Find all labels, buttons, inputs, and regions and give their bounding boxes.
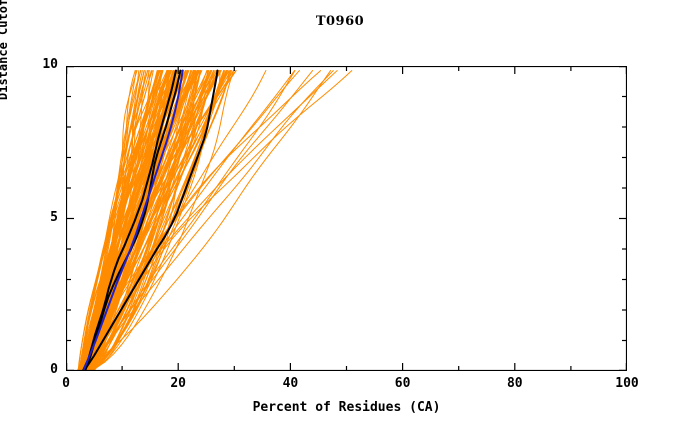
y-tick-label: 0 [28,362,58,377]
y-axis-label-text: Distance Cutoff, A [0,0,10,100]
x-axis-label: Percent of Residues (CA) [66,400,627,415]
plot-svg [66,66,627,371]
x-tick-label: 80 [495,376,535,391]
prediction-curves-layer [77,71,352,371]
chart-title: T0960 [0,14,680,29]
x-tick-label: 0 [46,376,86,391]
x-tick-label: 100 [607,376,647,391]
chart-page: T0960 Distance Cutoff, A Percent of Resi… [0,0,680,440]
x-tick-label: 20 [158,376,198,391]
x-tick-label: 60 [383,376,423,391]
y-tick-label: 5 [28,210,58,225]
y-tick-label: 10 [28,57,58,72]
x-tick-label: 40 [270,376,310,391]
plot-area [66,66,627,371]
